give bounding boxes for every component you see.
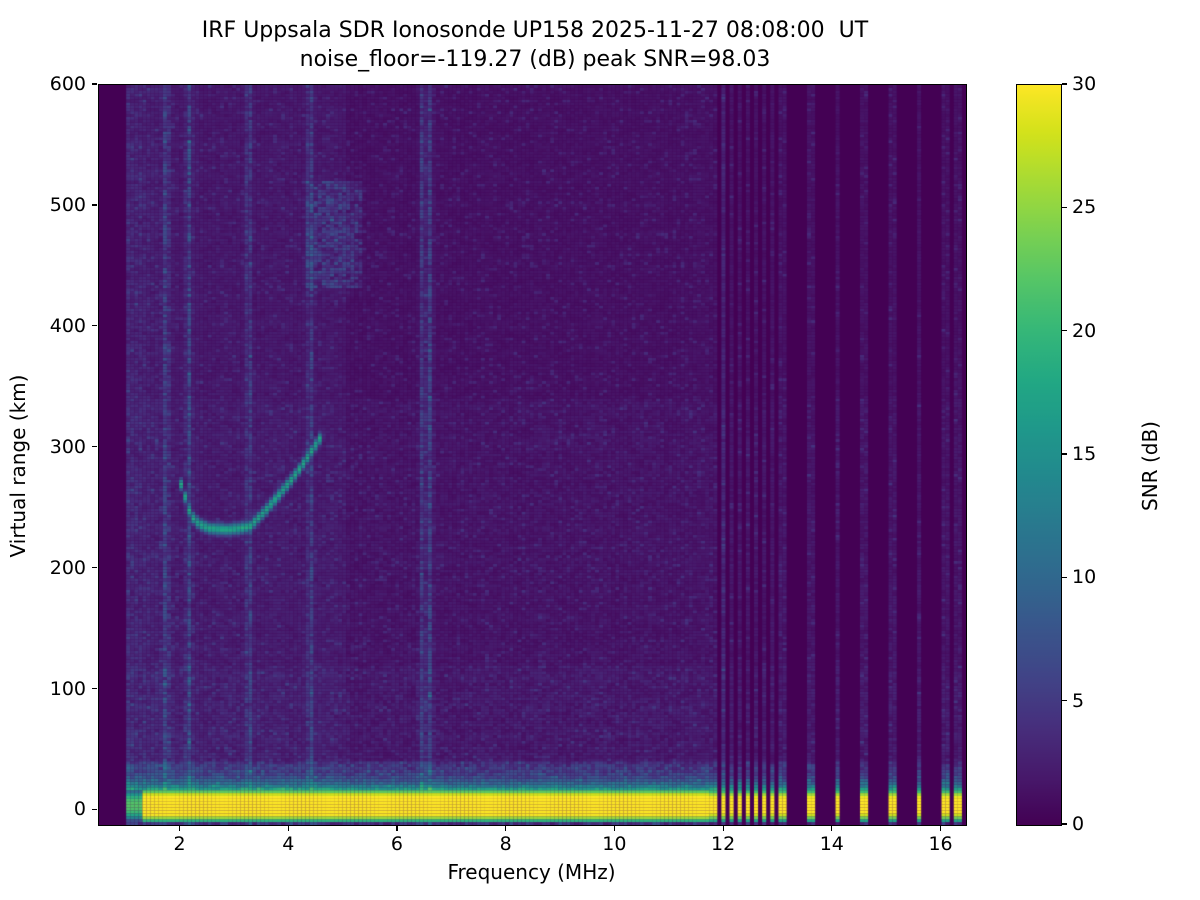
title-line-2: noise_floor=-119.27 (dB) peak SNR=98.03 (300, 47, 771, 72)
colorbar-tick (1062, 700, 1067, 701)
y-tick (92, 325, 97, 326)
y-tick-label: 300 (50, 436, 86, 458)
colorbar-tick (1062, 453, 1067, 454)
x-tick (179, 826, 180, 831)
x-tick (723, 826, 724, 831)
colorbar-tick-label: 30 (1072, 73, 1096, 95)
x-tick (288, 826, 289, 831)
y-tick (92, 567, 97, 568)
colorbar-tick-label: 5 (1072, 690, 1084, 712)
y-tick (92, 809, 97, 810)
y-tick-label: 500 (50, 194, 86, 216)
colorbar-tick-label: 15 (1072, 443, 1096, 465)
x-tick-label: 16 (928, 833, 952, 855)
y-tick-label: 600 (50, 73, 86, 95)
x-tick-label: 8 (500, 833, 512, 855)
x-axis-label: Frequency (MHz) (98, 860, 965, 884)
x-tick-label: 2 (173, 833, 185, 855)
y-axis-label: Virtual range (km) (6, 316, 30, 616)
colorbar (1016, 84, 1062, 826)
ionogram-heatmap (99, 85, 966, 825)
y-tick (92, 446, 97, 447)
colorbar-tick-label: 0 (1072, 813, 1084, 835)
x-tick (505, 826, 506, 831)
ionogram-figure: IRF Uppsala SDR Ionosonde UP158 2025-11-… (0, 0, 1200, 900)
figure-title: IRF Uppsala SDR Ionosonde UP158 2025-11-… (0, 16, 1070, 74)
x-tick (831, 826, 832, 831)
x-tick-label: 4 (282, 833, 294, 855)
title-line-1: IRF Uppsala SDR Ionosonde UP158 2025-11-… (202, 18, 868, 43)
colorbar-tick (1062, 83, 1067, 84)
x-tick (940, 826, 941, 831)
colorbar-tick-label: 20 (1072, 320, 1096, 342)
x-tick-label: 10 (602, 833, 626, 855)
y-tick-label: 100 (50, 678, 86, 700)
x-tick-label: 6 (391, 833, 403, 855)
colorbar-gradient (1017, 85, 1061, 825)
y-tick-label: 200 (50, 557, 86, 579)
ionogram-axes (98, 84, 967, 826)
y-tick (92, 688, 97, 689)
colorbar-label: SNR (dB) (1138, 316, 1162, 616)
y-tick-label: 0 (74, 798, 86, 820)
y-tick (92, 204, 97, 205)
colorbar-tick (1062, 577, 1067, 578)
x-tick (396, 826, 397, 831)
y-tick-label: 400 (50, 315, 86, 337)
colorbar-tick-label: 10 (1072, 566, 1096, 588)
x-tick-label: 12 (711, 833, 735, 855)
x-tick (614, 826, 615, 831)
colorbar-tick (1062, 823, 1067, 824)
colorbar-tick (1062, 330, 1067, 331)
y-tick (92, 83, 97, 84)
colorbar-tick-label: 25 (1072, 196, 1096, 218)
colorbar-tick (1062, 207, 1067, 208)
x-tick-label: 14 (820, 833, 844, 855)
